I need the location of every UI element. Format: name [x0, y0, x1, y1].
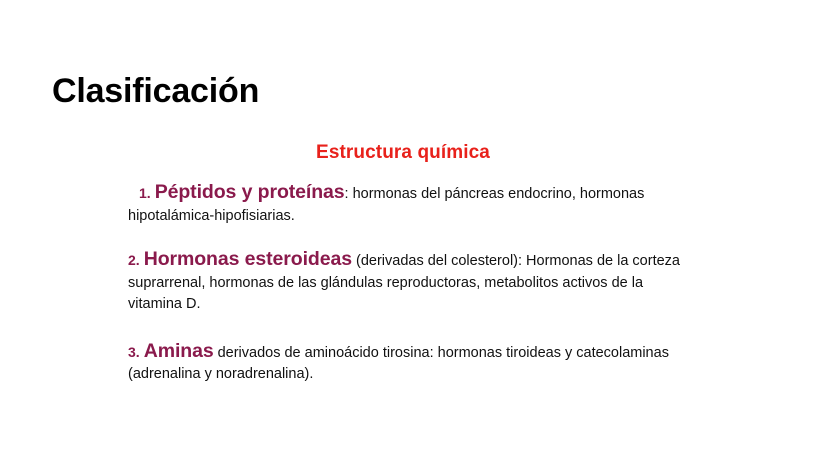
section-heading: Estructura química [0, 142, 806, 164]
list-item-number: 1. [139, 185, 151, 201]
list-item-number: 3. [128, 344, 140, 360]
slide-canvas: Clasificación Estructura química 1. Pépt… [0, 0, 828, 466]
list-item-term: Aminas [144, 340, 214, 362]
list-item-term: Péptidos y proteínas [155, 181, 345, 203]
classification-list: 1. Péptidos y proteínas: hormonas del pá… [128, 182, 686, 392]
list-item: 1. Péptidos y proteínas: hormonas del pá… [128, 182, 686, 227]
list-item-term: Hormonas esteroideas [144, 248, 352, 270]
list-item: 2. Hormonas esteroideas (derivadas del c… [128, 249, 686, 316]
list-item-number: 2. [128, 252, 140, 268]
page-title: Clasificación [52, 74, 259, 110]
list-item: 3. Aminas derivados de aminoácido tirosi… [128, 341, 686, 386]
